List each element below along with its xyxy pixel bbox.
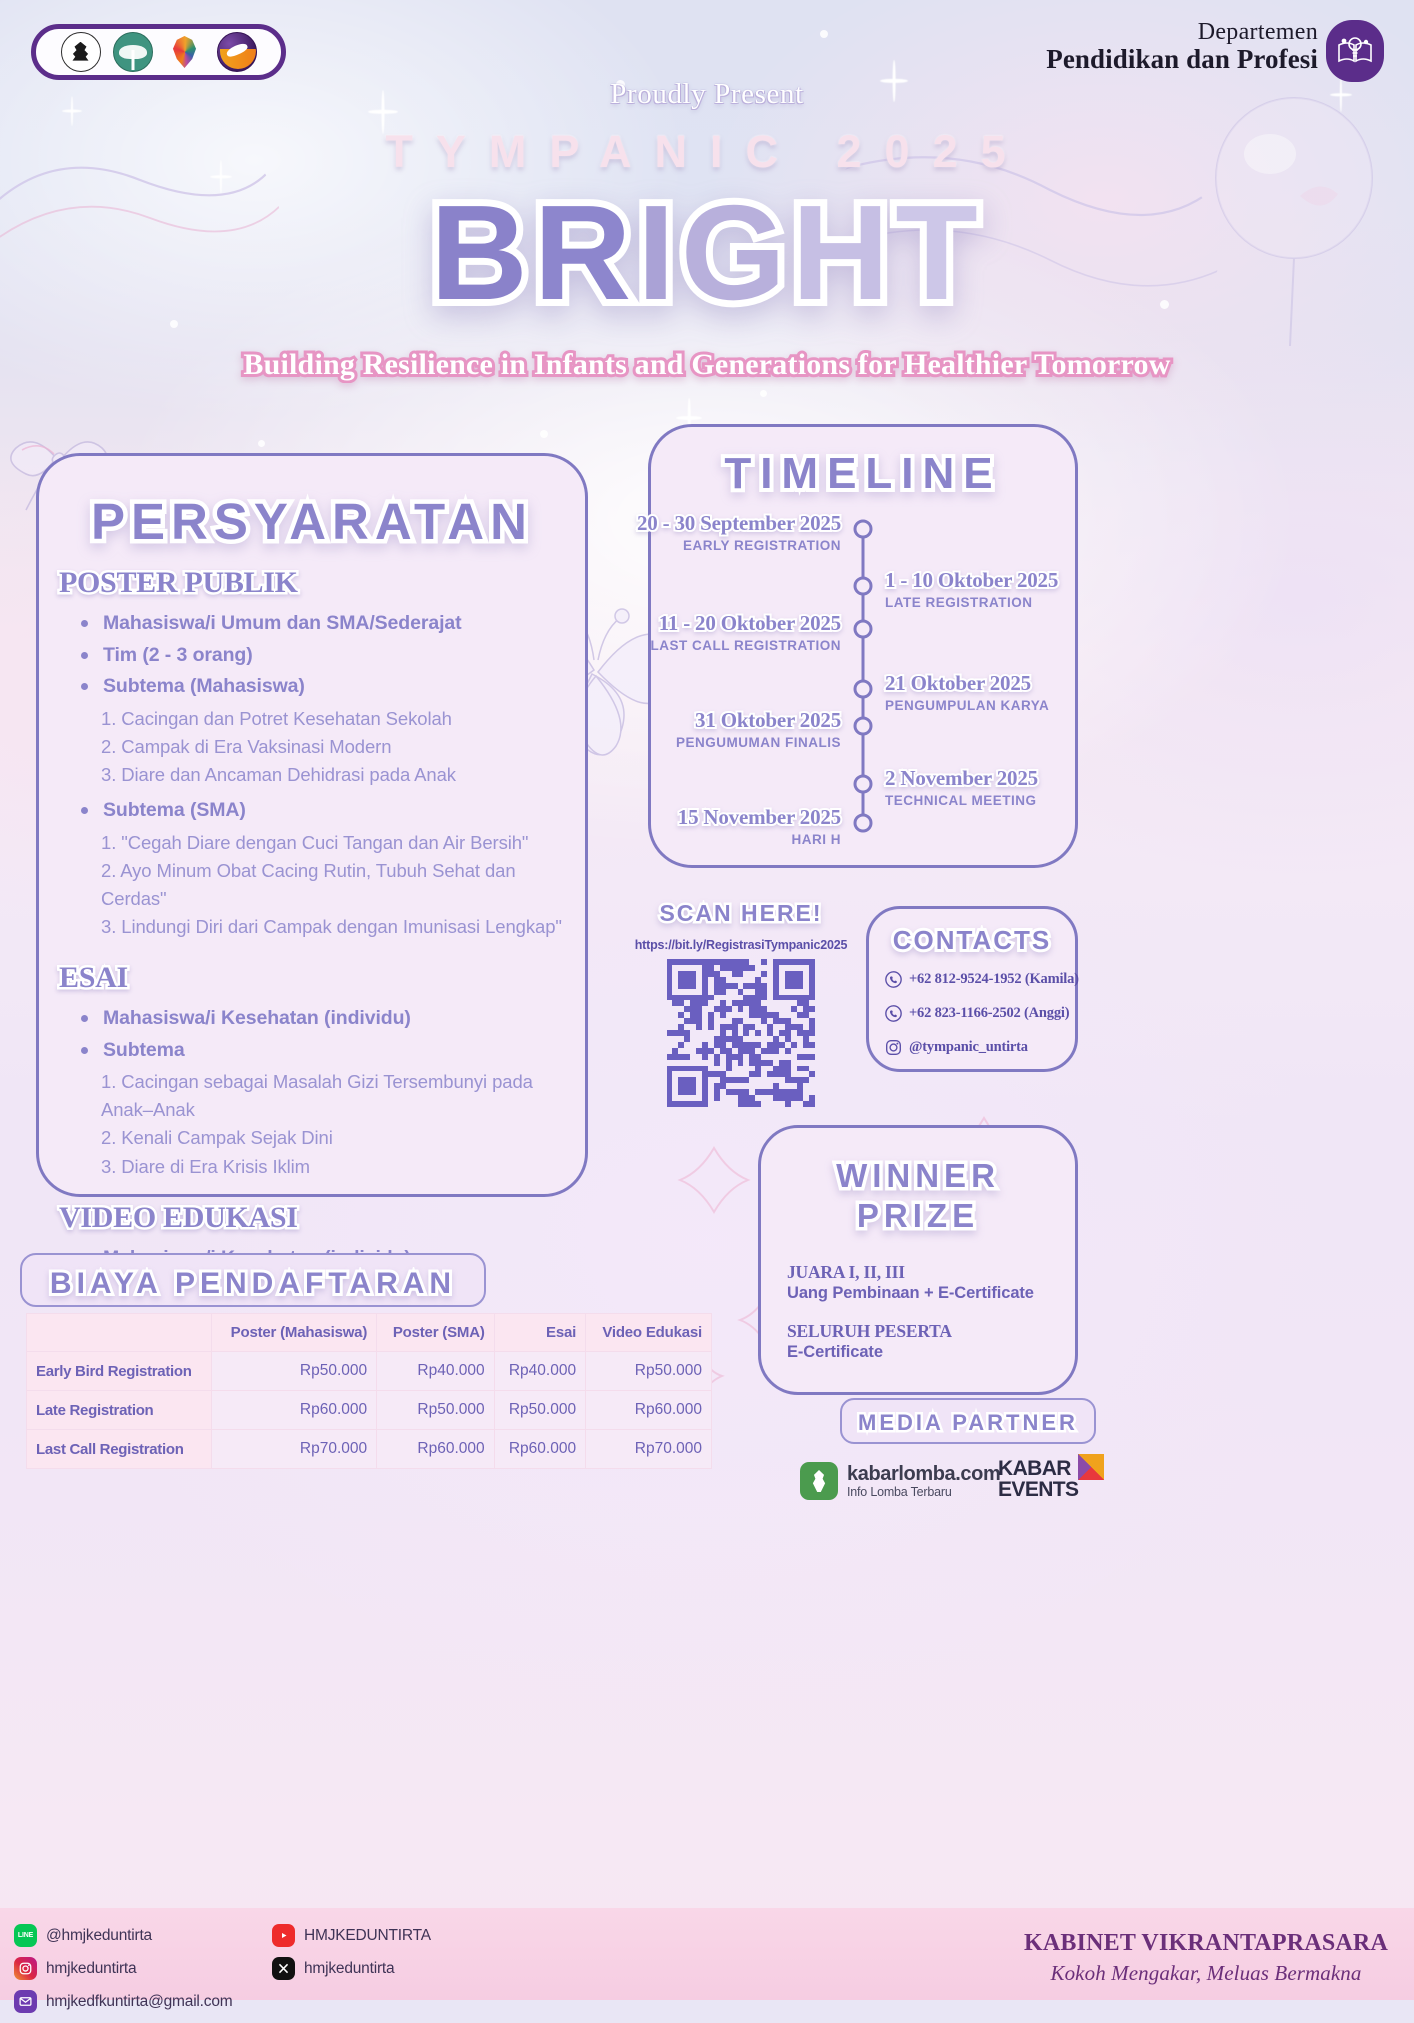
timeline-date: 2 November 2025 [885, 766, 1038, 791]
list-item: 2. Kenali Campak Sejak Dini [101, 1124, 571, 1152]
timeline-label: LAST CALL REGISTRATION [651, 638, 842, 653]
fk-untirta-logo [113, 32, 153, 72]
partner-name: kabarlomba.com [847, 1464, 1000, 1485]
timeline-date: 21 Oktober 2025 [885, 671, 1049, 696]
social-x[interactable]: hmjkeduntirta [272, 1957, 431, 1980]
table-cell: Rp40.000 [494, 1352, 585, 1391]
whatsapp-icon [885, 971, 902, 988]
timeline-label: PENGUMUMAN FINALIS [676, 735, 841, 750]
contact-row[interactable]: +62 812-9524-1952 (Kamila) [885, 971, 1079, 988]
social-handle: hmjkeduntirta [304, 1960, 394, 1978]
timeline-node [854, 577, 873, 596]
table-header-cell [27, 1314, 212, 1352]
table-cell: Rp50.000 [212, 1352, 377, 1391]
contact-row[interactable]: @tympanic_untirta [885, 1039, 1028, 1056]
contact-text: +62 812-9524-1952 (Kamila) [909, 971, 1079, 988]
list-item: 1. Cacingan sebagai Masalah Gizi Tersemb… [101, 1068, 571, 1124]
timeline-node [854, 520, 873, 539]
list-item: 3. Lindungi Diri dari Campak dengan Imun… [101, 913, 571, 941]
esai-subtema-list: 1. Cacingan sebagai Masalah Gizi Tersemb… [101, 1068, 571, 1180]
footer-socials: LINE @hmjkeduntirta HMJKEDUNTIRTA hmjked… [14, 1924, 431, 2023]
table-cell: Rp70.000 [212, 1430, 377, 1469]
list-item: Subtema (SMA) [73, 795, 571, 827]
contact-text: @tympanic_untirta [909, 1039, 1028, 1056]
requirements-card: PERSYARATAN POSTER PUBLIK Mahasiswa/i Um… [36, 453, 588, 1197]
section-heading-video: VIDEO EDUKASI [59, 1201, 571, 1235]
social-youtube[interactable]: HMJKEDUNTIRTA [272, 1924, 431, 1947]
social-handle: HMJKEDUNTIRTA [304, 1927, 431, 1945]
table-header-cell: Esai [494, 1314, 585, 1352]
prize-title: JUARA I, II, III [787, 1262, 1059, 1283]
institution-logos [31, 24, 286, 80]
winner-prize-line2: PRIZE [761, 1196, 1075, 1236]
timeline-item: 15 November 2025 HARI H [678, 805, 841, 847]
timeline-node [854, 814, 873, 833]
social-handle: hmjkeduntirta [46, 1960, 136, 1978]
prize-detail: Uang Pembinaan + E-Certificate [787, 1284, 1059, 1303]
prize-title: SELURUH PESERTA [787, 1321, 1059, 1342]
timeline-node [854, 680, 873, 699]
instagram-icon [14, 1957, 37, 1980]
list-item: Subtema (Mahasiswa) [73, 671, 571, 703]
partner-name: EVENTS [998, 1479, 1098, 1500]
contact-row[interactable]: +62 823-1166-2502 (Anggi) [885, 1005, 1069, 1022]
department-label: Departemen Pendidikan dan Profesi [1046, 20, 1318, 74]
list-item: Mahasiswa/i Umum dan SMA/Sederajat [73, 608, 571, 640]
timeline-node [854, 620, 873, 639]
line-icon: LINE [14, 1924, 37, 1947]
list-item: 3. Diare di Era Krisis Iklim [101, 1153, 571, 1181]
x-icon [272, 1957, 295, 1980]
whatsapp-icon [885, 1005, 902, 1022]
department-line2: Pendidikan dan Profesi [1046, 45, 1318, 74]
timeline-label: EARLY REGISTRATION [637, 538, 841, 553]
table-cell: Rp60.000 [586, 1391, 712, 1430]
untirta-logo [61, 32, 101, 72]
mail-icon [14, 1990, 37, 2013]
book-lightbulb-icon [1326, 20, 1384, 82]
winner-prize-line1: WINNER [761, 1156, 1075, 1196]
dot-decoration [170, 320, 178, 328]
fees-heading: BIAYA PENDAFTARAN [20, 1257, 486, 1311]
winner-prize-card: WINNER PRIZE JUARA I, II, III Uang Pembi… [758, 1125, 1078, 1395]
timeline-date: 15 November 2025 [678, 805, 841, 830]
social-handle: @hmjkeduntirta [46, 1927, 152, 1945]
dot-decoration [820, 30, 828, 38]
event-name: TYMPANIC 2025 [0, 126, 1414, 178]
dot-decoration [540, 430, 548, 438]
timeline-card: TIMELINE 20 - 30 September 2025 EARLY RE… [648, 424, 1078, 868]
table-row-label: Last Call Registration [27, 1430, 212, 1469]
section-heading-poster: POSTER PUBLIK [59, 566, 571, 600]
cabinet-info: KABINET VIKRANTAPRASARA Kokoh Mengakar, … [1024, 1930, 1388, 1986]
timeline-item: 11 - 20 Oktober 2025 LAST CALL REGISTRAT… [651, 611, 842, 653]
kabarlomba-icon [800, 1462, 838, 1500]
list-item: Subtema [73, 1035, 571, 1067]
table-cell: Rp60.000 [377, 1430, 495, 1469]
table-header-cell: Poster (Mahasiswa) [212, 1314, 377, 1352]
table-cell: Rp60.000 [494, 1430, 585, 1469]
scan-url[interactable]: https://bit.ly/RegistrasiTympanic2025 [626, 938, 856, 952]
cabinet-motto: Kokoh Mengakar, Meluas Bermakna [1024, 1961, 1388, 1986]
poster-sma-bullet: Subtema (SMA) [73, 795, 571, 827]
contacts-card: CONTACTS +62 812-9524-1952 (Kamila) +62 … [866, 906, 1078, 1072]
table-row: Late Registration Rp60.000 Rp50.000 Rp50… [27, 1391, 712, 1430]
dot-decoration [760, 390, 767, 397]
esai-bullets: Mahasiswa/i Kesehatan (individu) Subtema [73, 1003, 571, 1066]
table-cell: Rp50.000 [377, 1391, 495, 1430]
flame-logo [165, 32, 205, 72]
section-heading-esai: ESAI [59, 961, 571, 995]
timeline-label: LATE REGISTRATION [885, 595, 1058, 610]
youtube-icon [272, 1924, 295, 1947]
list-item: 1. Cacingan dan Potret Kesehatan Sekolah [101, 705, 571, 733]
poster-bullets: Mahasiswa/i Umum dan SMA/Sederajat Tim (… [73, 608, 571, 703]
table-header-cell: Video Edukasi [586, 1314, 712, 1352]
timeline-heading: TIMELINE [651, 449, 1075, 499]
scan-heading: SCAN HERE! [626, 900, 856, 927]
timeline-item: 2 November 2025 TECHNICAL MEETING [885, 766, 1038, 808]
cabinet-name: KABINET VIKRANTAPRASARA [1024, 1930, 1388, 1957]
table-row-label: Late Registration [27, 1391, 212, 1430]
qr-code-image[interactable] [667, 959, 815, 1107]
list-item: 2. Campak di Era Vaksinasi Modern [101, 733, 571, 761]
social-line[interactable]: LINE @hmjkeduntirta [14, 1924, 264, 1947]
winner-prize-heading: WINNER PRIZE [761, 1156, 1075, 1237]
instagram-icon [885, 1039, 902, 1056]
table-cell: Rp40.000 [377, 1352, 495, 1391]
media-partner-heading: MEDIA PARTNER [840, 1400, 1096, 1446]
timeline-node [854, 717, 873, 736]
page-title: BRIGHT [0, 185, 1414, 320]
timeline-date: 1 - 10 Oktober 2025 [885, 568, 1058, 593]
table-row: Early Bird Registration Rp50.000 Rp40.00… [27, 1352, 712, 1391]
timeline-date: 11 - 20 Oktober 2025 [651, 611, 842, 636]
poster-subtema-mahasiswa-list: 1. Cacingan dan Potret Kesehatan Sekolah… [101, 705, 571, 789]
hmj-logo [217, 32, 257, 72]
timeline-label: TECHNICAL MEETING [885, 793, 1038, 808]
timeline-item: 31 Oktober 2025 PENGUMUMAN FINALIS [676, 708, 841, 750]
list-item: 1. "Cegah Diare dengan Cuci Tangan dan A… [101, 829, 571, 857]
list-item: Mahasiswa/i Kesehatan (individu) [73, 1003, 571, 1035]
fees-table: Poster (Mahasiswa) Poster (SMA) Esai Vid… [26, 1313, 712, 1469]
footer: LINE @hmjkeduntirta HMJKEDUNTIRTA hmjked… [0, 1908, 1414, 2000]
social-mail[interactable]: hmjkedfkuntirta@gmail.com [14, 1990, 264, 2013]
tagline: Building Resilience in Infants and Gener… [0, 348, 1414, 382]
dot-decoration [258, 440, 265, 447]
table-cell: Rp50.000 [586, 1352, 712, 1391]
timeline-date: 20 - 30 September 2025 [637, 511, 841, 536]
list-item: 2. Ayo Minum Obat Cacing Rutin, Tubuh Se… [101, 857, 571, 913]
table-row: Last Call Registration Rp70.000 Rp60.000… [27, 1430, 712, 1469]
poster-subtema-sma-list: 1. "Cegah Diare dengan Cuci Tangan dan A… [101, 829, 571, 941]
media-partner-kabarevents: KABAR EVENTS [998, 1458, 1098, 1500]
table-header-row: Poster (Mahasiswa) Poster (SMA) Esai Vid… [27, 1314, 712, 1352]
prize-detail: E-Certificate [787, 1343, 1059, 1362]
list-item: Tim (2 - 3 orang) [73, 640, 571, 672]
timeline-label: HARI H [678, 832, 841, 847]
list-item: 3. Diare dan Ancaman Dehidrasi pada Anak [101, 761, 571, 789]
proudly-present-text: Proudly Present [0, 78, 1414, 111]
partner-tagline: Info Lomba Terbaru [847, 1485, 1000, 1499]
table-cell: Rp70.000 [586, 1430, 712, 1469]
qr-code[interactable] [648, 958, 833, 1108]
social-handle: hmjkedfkuntirta@gmail.com [46, 1993, 232, 2011]
department-line1: Departemen [1046, 20, 1318, 45]
table-cell: Rp50.000 [494, 1391, 585, 1430]
timeline-node [854, 775, 873, 794]
winner-prize-body: JUARA I, II, III Uang Pembinaan + E-Cert… [787, 1262, 1059, 1362]
timeline-item: 21 Oktober 2025 PENGUMPULAN KARYA [885, 671, 1049, 713]
requirements-heading: PERSYARATAN [39, 492, 585, 551]
timeline-date: 31 Oktober 2025 [676, 708, 841, 733]
kabarevents-icon [1078, 1454, 1104, 1480]
social-instagram[interactable]: hmjkeduntirta [14, 1957, 264, 1980]
table-row-label: Early Bird Registration [27, 1352, 212, 1391]
timeline-label: PENGUMPULAN KARYA [885, 698, 1049, 713]
timeline-item: 20 - 30 September 2025 EARLY REGISTRATIO… [637, 511, 841, 553]
table-cell: Rp60.000 [212, 1391, 377, 1430]
contact-text: +62 823-1166-2502 (Anggi) [909, 1005, 1069, 1022]
media-partner-kabarlomba: kabarlomba.com Info Lomba Terbaru [800, 1462, 1000, 1500]
timeline-item: 1 - 10 Oktober 2025 LATE REGISTRATION [885, 568, 1058, 610]
contacts-heading: CONTACTS [869, 925, 1075, 956]
table-header-cell: Poster (SMA) [377, 1314, 495, 1352]
